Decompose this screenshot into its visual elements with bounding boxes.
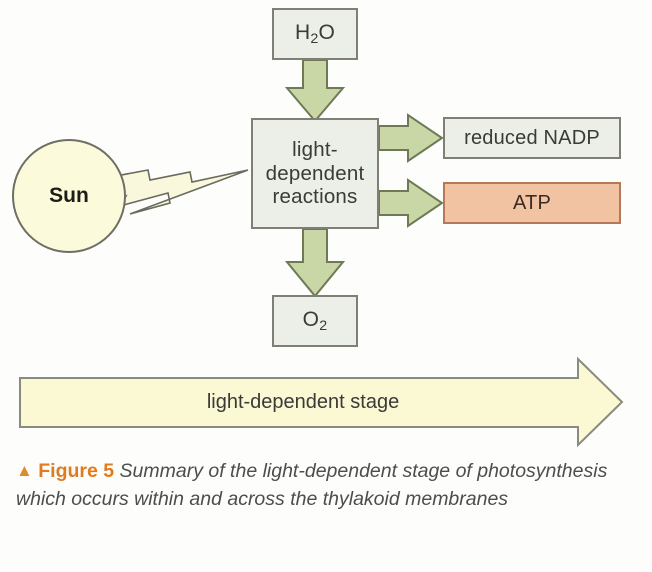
node-light-dependent-reactions[interactable]: light- dependent reactions bbox=[251, 118, 379, 229]
arrow-reactions-to-nadp bbox=[379, 115, 442, 161]
water-formula-tail: O bbox=[318, 21, 335, 44]
node-water-label: H2O bbox=[295, 21, 335, 47]
triangle-up-icon: ▲ bbox=[16, 461, 33, 480]
node-oxygen[interactable]: O2 bbox=[272, 295, 358, 347]
banner-stage-arrow bbox=[20, 359, 622, 445]
reactions-line-2: dependent bbox=[266, 162, 365, 186]
node-sun[interactable]: Sun bbox=[12, 139, 126, 253]
arrow-water-to-reactions bbox=[287, 60, 343, 121]
arrow-reactions-to-atp bbox=[379, 180, 442, 226]
node-oxygen-label: O2 bbox=[303, 308, 328, 334]
node-sun-label: Sun bbox=[49, 184, 89, 208]
node-atp[interactable]: ATP bbox=[443, 182, 621, 224]
reactions-line-1: light- bbox=[292, 138, 338, 162]
oxygen-formula-main: O bbox=[303, 308, 320, 331]
diagram-canvas: Sun H2O light- dependent reactions O2 re… bbox=[0, 0, 652, 460]
node-reduced-nadp[interactable]: reduced NADP bbox=[443, 117, 621, 159]
arrow-reactions-to-oxygen bbox=[287, 229, 343, 296]
oxygen-formula-subscript: 2 bbox=[319, 318, 327, 334]
reactions-line-3: reactions bbox=[273, 185, 358, 209]
node-atp-label: ATP bbox=[513, 192, 551, 215]
water-formula-main: H bbox=[295, 21, 310, 44]
node-water[interactable]: H2O bbox=[272, 8, 358, 60]
figure-number-label: Figure 5 bbox=[38, 460, 114, 482]
figure-caption: ▲ Figure 5 Summary of the light-dependen… bbox=[16, 458, 636, 513]
node-reduced-nadp-label: reduced NADP bbox=[464, 127, 600, 150]
